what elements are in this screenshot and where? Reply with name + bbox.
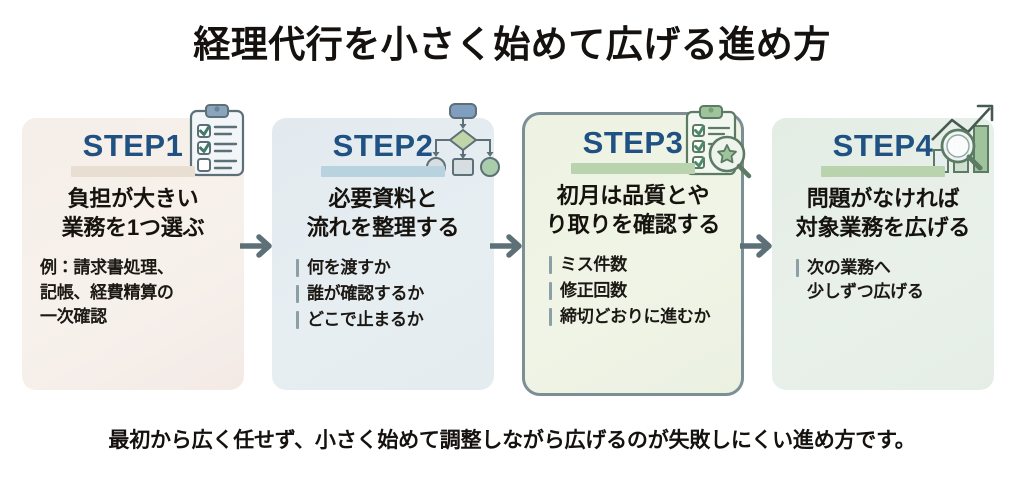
step-headline-2-line2: 流れを整理する: [284, 213, 482, 242]
step-underline-1: [71, 166, 195, 177]
step-underline-3: [571, 163, 695, 174]
step-bullet-4-line1: 次の業務へ: [807, 258, 891, 277]
step-bullets-3: ミス件数 修正回数 締切どおりに進むか: [537, 253, 729, 329]
step-label-4: STEP4: [829, 128, 938, 164]
list-item: 締切どおりに進むか: [549, 305, 729, 329]
step-bullet-4-line2: 少しずつ広げる: [807, 282, 924, 301]
step-headline-3: 初月は品質とや り取りを確認する: [537, 181, 729, 239]
step-detail-1-line2: 記帳、経費精算の: [40, 281, 232, 305]
page-title: 経理代行を小さく始めて広げる進め方: [0, 14, 1024, 68]
infographic-page: 経理代行を小さく始めて広げる進め方 STEP1 負担が大きい 業務を1つ選ぶ 例…: [0, 0, 1024, 486]
step-label-1: STEP1: [79, 128, 188, 164]
step-headline-3-line2: り取りを確認する: [537, 210, 729, 239]
step-detail-1-line3: 一次確認: [40, 305, 232, 329]
footer-summary: 最初から広く任せず、小さく始めて調整しながら広げるのが失敗しにくい進め方です。: [0, 424, 1024, 454]
step-underline-4: [821, 166, 945, 177]
step-headline-4: 問題がなければ 対象業務を広げる: [784, 184, 982, 242]
step-headline-1: 負担が大きい 業務を1つ選ぶ: [34, 184, 232, 242]
step-bullets-4: 次の業務へ 少しずつ広げる: [784, 256, 982, 304]
step-bullets-2: 何を渡すか 誰が確認するか どこで止まるか: [284, 256, 482, 332]
step-headline-4-line2: 対象業務を広げる: [784, 213, 982, 242]
clipboard-checklist-icon: [186, 104, 248, 183]
list-item: 修正回数: [549, 279, 729, 303]
step-label-3: STEP3: [579, 125, 688, 161]
step-label-2: STEP2: [329, 128, 438, 164]
list-item: 誰が確認するか: [296, 282, 482, 306]
arrow-step1-to-step2: [240, 232, 274, 260]
arrow-step2-to-step3: [490, 232, 524, 260]
step-headline-4-line1: 問題がなければ: [784, 184, 982, 213]
step-headline-2-line1: 必要資料と: [284, 184, 482, 213]
list-item: ミス件数: [549, 253, 729, 277]
list-item: 何を渡すか: [296, 256, 482, 280]
arrow-step3-to-step4: [740, 232, 774, 260]
step-headline-1-line2: 業務を1つ選ぶ: [34, 213, 232, 242]
step-headline-2: 必要資料と 流れを整理する: [284, 184, 482, 242]
step-detail-1: 例：請求書処理、 記帳、経費精算の 一次確認: [34, 256, 232, 329]
step-headline-3-line1: 初月は品質とや: [537, 181, 729, 210]
list-item: 次の業務へ 少しずつ広げる: [796, 256, 982, 304]
list-item: どこで止まるか: [296, 308, 482, 332]
step-underline-2: [321, 166, 445, 177]
step-headline-1-line1: 負担が大きい: [34, 184, 232, 213]
step-detail-1-line1: 例：請求書処理、: [40, 256, 232, 280]
